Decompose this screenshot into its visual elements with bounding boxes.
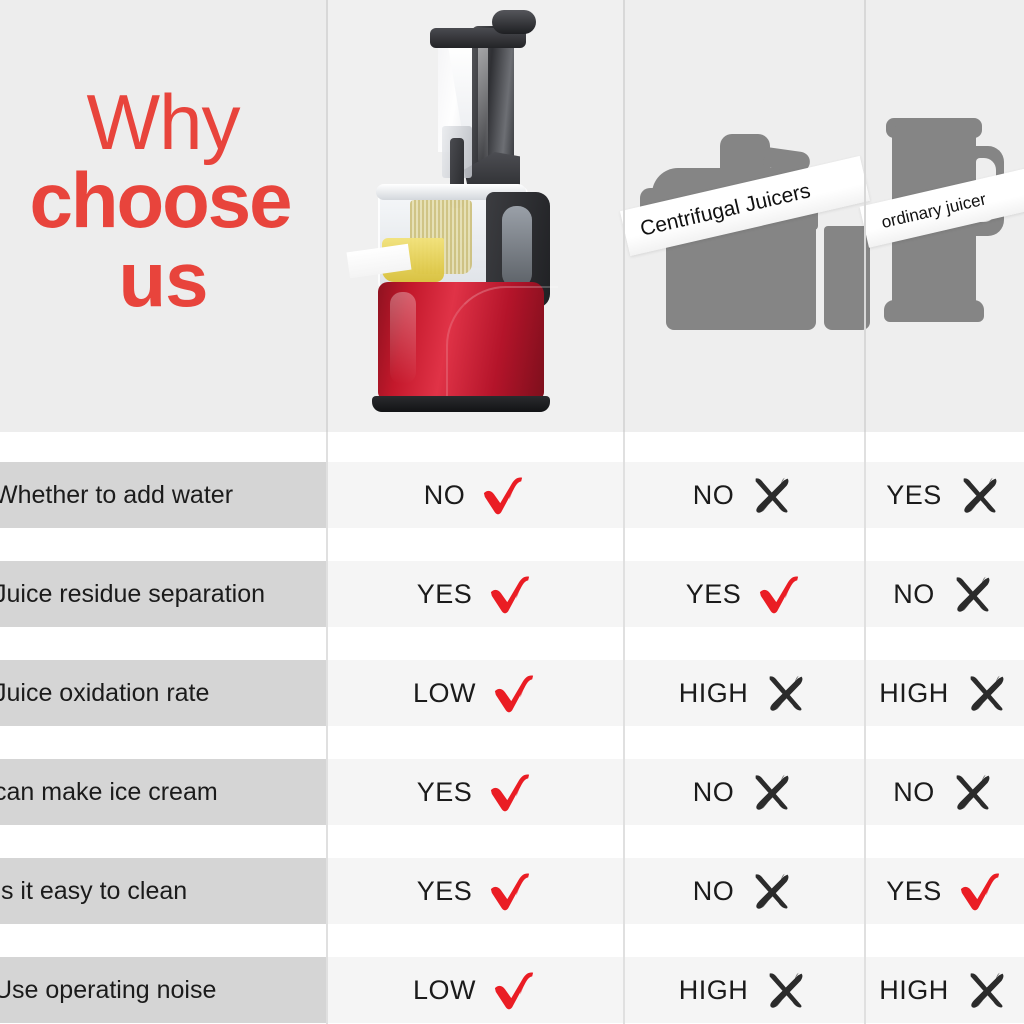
comparison-table: Whether to add water NO NO YES Juice res… [0,432,1024,1024]
cell-ours: NO [326,462,623,528]
table-divider-2 [623,432,625,1024]
silhouette-ordinary-base [884,300,984,322]
cell-ordinary: HIGH [864,957,1024,1023]
cell-value: YES [417,579,473,610]
cross-mark-icon [764,970,808,1010]
cross-mark-icon [750,871,794,911]
check-mark-icon [488,772,532,812]
cross-mark-icon [965,673,1009,713]
cell-ours: YES [326,858,623,924]
header-divider-3 [864,0,866,432]
row-label-cell: Juice oxidation rate [0,660,326,726]
product-body-contour [446,286,558,400]
check-mark-icon [757,574,801,614]
check-mark-icon [488,871,532,911]
cross-mark-icon [750,772,794,812]
cell-value: LOW [413,678,476,709]
header-divider-2 [623,0,625,432]
cell-ours: LOW [326,660,623,726]
cell-ordinary: YES [864,858,1024,924]
table-row: Juice residue separation YES YES NO [0,561,1024,627]
cell-value: YES [417,876,473,907]
row-label-cell: Whether to add water [0,462,326,528]
cell-value: NO [893,777,935,808]
cross-mark-icon [951,772,995,812]
cell-ordinary: NO [864,561,1024,627]
cross-mark-icon [764,673,808,713]
row-label-cell: Use operating noise [0,957,326,1023]
table-row: Is it easy to clean YES NO YES [0,858,1024,924]
cell-centrifugal: HIGH [623,957,864,1023]
check-mark-icon [492,673,536,713]
cell-value: HIGH [679,975,749,1006]
table-row: Juice oxidation rate LOW HIGH HIGH [0,660,1024,726]
page-title: Why choose us [0,84,326,317]
cell-centrifugal: NO [623,759,864,825]
cell-ordinary: YES [864,462,1024,528]
check-mark-icon [958,871,1002,911]
product-image-ours [326,0,623,432]
silhouette-centrifugal-lid [720,134,770,174]
cell-ours: LOW [326,957,623,1023]
cell-centrifugal: HIGH [623,660,864,726]
row-label-cell: can make ice cream [0,759,326,825]
cell-value: NO [693,480,735,511]
product-lid-knob [492,10,536,34]
cell-value: HIGH [879,975,949,1006]
cell-centrifugal: NO [623,462,864,528]
row-label: Juice residue separation [0,580,265,609]
cross-mark-icon [750,475,794,515]
product-body-highlight [390,292,416,384]
product-handle-grip [502,206,532,288]
cell-value: HIGH [679,678,749,709]
check-mark-icon [488,574,532,614]
row-label-cell: Juice residue separation [0,561,326,627]
cell-value: YES [886,480,942,511]
header-band: Why choose us [0,0,1024,432]
cross-mark-icon [951,574,995,614]
cell-value: LOW [413,975,476,1006]
title-line-2: choose [0,162,326,238]
row-label: Juice oxidation rate [0,679,209,708]
cross-mark-icon [958,475,1002,515]
table-row: Whether to add water NO NO YES [0,462,1024,528]
product-feed-tube-highlight [478,36,488,164]
cell-ordinary: HIGH [864,660,1024,726]
row-label: Whether to add water [0,481,233,510]
cell-value: HIGH [879,678,949,709]
table-row: Use operating noise LOW HIGH HIGH [0,957,1024,1023]
cell-centrifugal: NO [623,858,864,924]
cell-ours: YES [326,759,623,825]
cell-ours: YES [326,561,623,627]
check-mark-icon [481,475,525,515]
cell-ordinary: NO [864,759,1024,825]
cell-value: NO [693,876,735,907]
row-label-cell: Is it easy to clean [0,858,326,924]
cell-value: YES [417,777,473,808]
comparison-infographic: Why choose us [0,0,1024,1024]
cell-value: YES [686,579,742,610]
table-divider-1 [326,432,328,1024]
table-row: can make ice cream YES NO NO [0,759,1024,825]
cell-value: YES [886,876,942,907]
cell-centrifugal: YES [623,561,864,627]
table-divider-3 [864,432,866,1024]
title-line-3: us [0,241,326,317]
cell-value: NO [893,579,935,610]
header-divider-1 [326,0,328,432]
title-line-1: Why [0,84,326,160]
cell-value: NO [424,480,466,511]
row-label: Use operating noise [0,976,216,1005]
cross-mark-icon [965,970,1009,1010]
check-mark-icon [492,970,536,1010]
cell-value: NO [693,777,735,808]
product-base [372,396,550,412]
row-label: can make ice cream [0,778,218,807]
row-label: Is it easy to clean [0,877,187,906]
